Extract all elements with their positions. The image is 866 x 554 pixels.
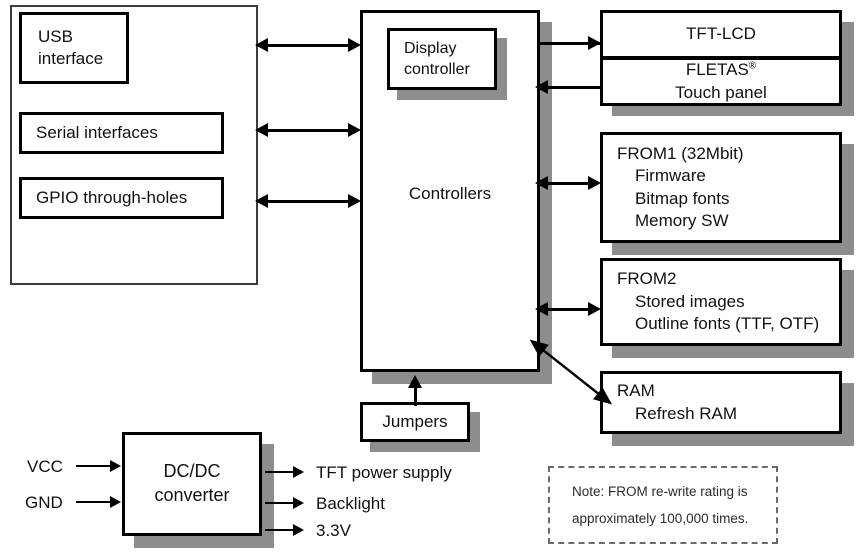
arrowhead-vcc-right <box>110 460 121 472</box>
arrowhead-tftpower-right <box>293 466 304 478</box>
arrowhead-jumpers-up <box>408 375 422 388</box>
arrowhead-backlight-right <box>293 497 304 509</box>
arrowhead-3v3-right <box>293 524 304 536</box>
connector-controllers-ram <box>0 0 866 554</box>
block-diagram-canvas: USB interface Serial interfaces GPIO thr… <box>0 0 866 554</box>
arrowhead-gnd-right <box>110 496 121 508</box>
